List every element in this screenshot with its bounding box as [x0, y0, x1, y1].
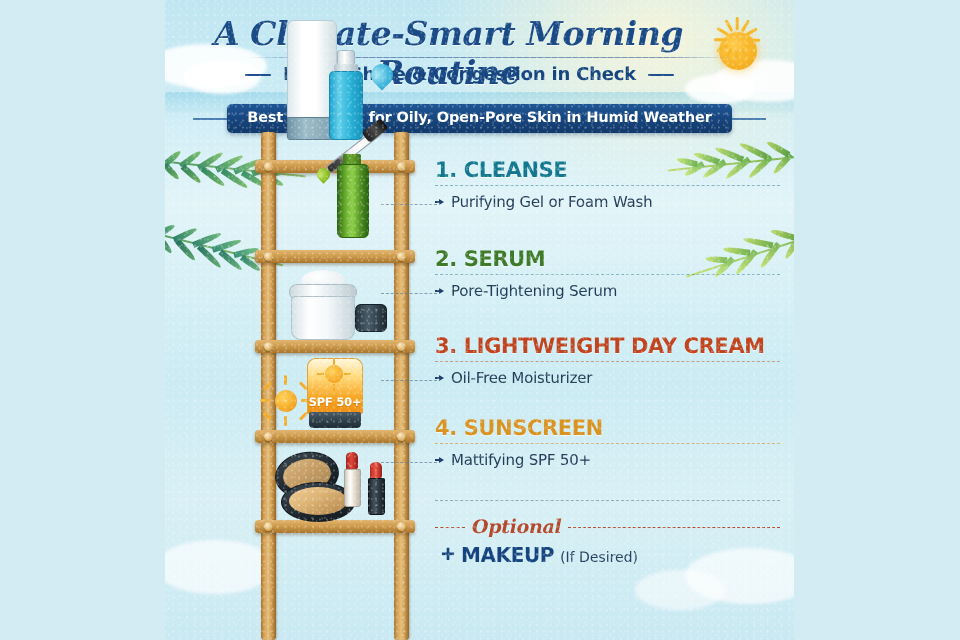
ladder-bolt: [397, 162, 406, 171]
frond-leaf: [790, 139, 794, 155]
optional-dash-right: [568, 527, 780, 528]
step-subtitle: Mattifying SPF 50+: [451, 451, 591, 469]
step-divider: [435, 361, 780, 362]
step-block-1: 1. CLEANSE Purifying Gel or Foam Wash: [435, 158, 780, 211]
serum-dropper-icon: [311, 116, 381, 252]
ladder-bolt: [397, 342, 406, 351]
step-divider: [435, 185, 780, 186]
connector-line: [381, 380, 437, 381]
subtitle-dash-left: [245, 74, 271, 76]
step-subtitle: Oil-Free Moisturizer: [451, 369, 592, 387]
arrow-icon: [435, 374, 444, 383]
optional-label: Optional: [472, 516, 561, 538]
ladder-bolt: [264, 162, 273, 171]
step-block-4: 4. SUNSCREEN Mattifying SPF 50+: [435, 416, 780, 469]
step-subtitle-row: Purifying Gel or Foam Wash: [435, 193, 780, 211]
makeup-title: MAKEUP: [461, 543, 554, 567]
step-divider: [435, 443, 780, 444]
poster-frame: A Climate-Smart Morning Routine Keeps Sh…: [0, 0, 960, 640]
arrow-icon: [435, 198, 444, 207]
ladder-bolt: [397, 252, 406, 261]
infographic-poster: A Climate-Smart Morning Routine Keeps Sh…: [165, 0, 794, 640]
step-title: 1. CLEANSE: [435, 158, 780, 182]
ladder-rail-right: [394, 132, 409, 640]
step-subtitle: Pore-Tightening Serum: [451, 282, 617, 300]
connector-line: [381, 204, 437, 205]
step-title: 2. SERUM: [435, 247, 780, 271]
subtitle-row: Keeps Shine & Congestion in Check: [165, 64, 794, 85]
ladder-bolt: [264, 252, 273, 261]
lipstick-icon: [343, 452, 363, 508]
step-subtitle: Purifying Gel or Foam Wash: [451, 193, 652, 211]
arrow-icon: [435, 287, 444, 296]
cream-jar-icon: [283, 270, 387, 342]
banner-tail-left: [193, 118, 227, 120]
step-block-3: 3. LIGHTWEIGHT DAY CREAM Oil-Free Moistu…: [435, 334, 780, 387]
step-subtitle-row: Pore-Tightening Serum: [435, 282, 780, 300]
banner-tail-right: [732, 118, 766, 120]
water-drop-icon: [371, 60, 393, 88]
optional-dash-left: [435, 527, 465, 528]
step-block-2: 2. SERUM Pore-Tightening Serum: [435, 247, 780, 300]
ladder-bolt: [397, 432, 406, 441]
cloud: [635, 570, 725, 610]
plus-icon: +: [441, 543, 455, 567]
makeup-note: (If Desired): [560, 550, 638, 566]
ladder-bolt: [397, 522, 406, 531]
makeup-row: + MAKEUP (If Desired): [441, 543, 638, 567]
banner-row: Best AM Steps for Oily, Open-Pore Skin i…: [165, 104, 794, 133]
ladder-bolt: [264, 342, 273, 351]
subtitle-dash-right: [648, 74, 674, 76]
step-title: 3. LIGHTWEIGHT DAY CREAM: [435, 334, 780, 358]
step-subtitle-row: Mattifying SPF 50+: [435, 451, 780, 469]
ladder-bolt: [264, 432, 273, 441]
sunscreen-tube-icon: SPF 50+: [307, 358, 363, 430]
optional-top-divider: [435, 500, 780, 501]
sun-doodle-icon: [259, 374, 311, 426]
optional-row: Optional: [435, 516, 780, 538]
frond-leaf: [770, 228, 794, 241]
connector-line: [381, 462, 437, 463]
step-subtitle-row: Oil-Free Moisturizer: [435, 369, 780, 387]
arrow-icon: [435, 456, 444, 465]
step-divider: [435, 274, 780, 275]
connector-line: [381, 293, 437, 294]
lipstick-icon: [367, 462, 387, 516]
step-title: 4. SUNSCREEN: [435, 416, 780, 440]
ladder-shelf: SPF 50+: [255, 132, 415, 640]
spf-label: SPF 50+: [308, 395, 362, 409]
ladder-rung: [255, 430, 415, 443]
frond-leaf: [165, 163, 181, 181]
